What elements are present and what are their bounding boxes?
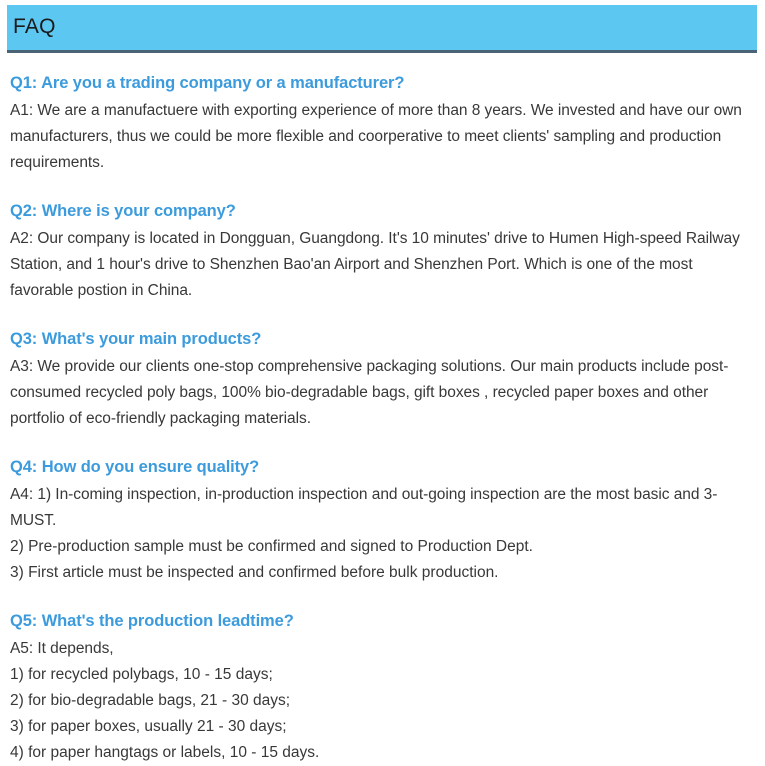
faq-page: FAQ Q1: Are you a trading company or a m… (0, 0, 765, 748)
page-title: FAQ (13, 13, 56, 41)
faq-question-q2: Q2: Where is your company? (10, 198, 755, 224)
faq-answer-q1: A1: We are a manufactuere with exporting… (10, 98, 755, 176)
faq-answer-line: 4) for paper hangtags or labels, 10 - 15… (10, 740, 755, 766)
faq-answer-line: 1) for recycled polybags, 10 - 15 days; (10, 662, 755, 688)
faq-answer-line: 3) First article must be inspected and c… (10, 560, 755, 586)
faq-content: Q1: Are you a trading company or a manuf… (10, 70, 755, 766)
faq-answer-line: 2) Pre-production sample must be confirm… (10, 534, 755, 560)
faq-question-q4: Q4: How do you ensure quality? (10, 454, 755, 480)
faq-answer-q5: A5: It depends, (10, 636, 755, 662)
faq-question-q3: Q3: What's your main products? (10, 326, 755, 352)
faq-question-q1: Q1: Are you a trading company or a manuf… (10, 70, 755, 96)
faq-answer-line: 3) for paper boxes, usually 21 - 30 days… (10, 714, 755, 740)
faq-answer-q3: A3: We provide our clients one-stop comp… (10, 354, 755, 432)
faq-banner: FAQ (7, 5, 757, 53)
faq-answer-q2: A2: Our company is located in Dongguan, … (10, 226, 755, 304)
faq-item-q1: Q1: Are you a trading company or a manuf… (10, 70, 755, 176)
faq-item-q2: Q2: Where is your company? A2: Our compa… (10, 198, 755, 304)
faq-answer-line: 2) for bio-degradable bags, 21 - 30 days… (10, 688, 755, 714)
faq-item-q5: Q5: What's the production leadtime? A5: … (10, 608, 755, 766)
faq-answer-q4: A4: 1) In-coming inspection, in-producti… (10, 482, 755, 534)
faq-question-q5: Q5: What's the production leadtime? (10, 608, 755, 634)
faq-item-q4: Q4: How do you ensure quality? A4: 1) In… (10, 454, 755, 586)
faq-item-q3: Q3: What's your main products? A3: We pr… (10, 326, 755, 432)
